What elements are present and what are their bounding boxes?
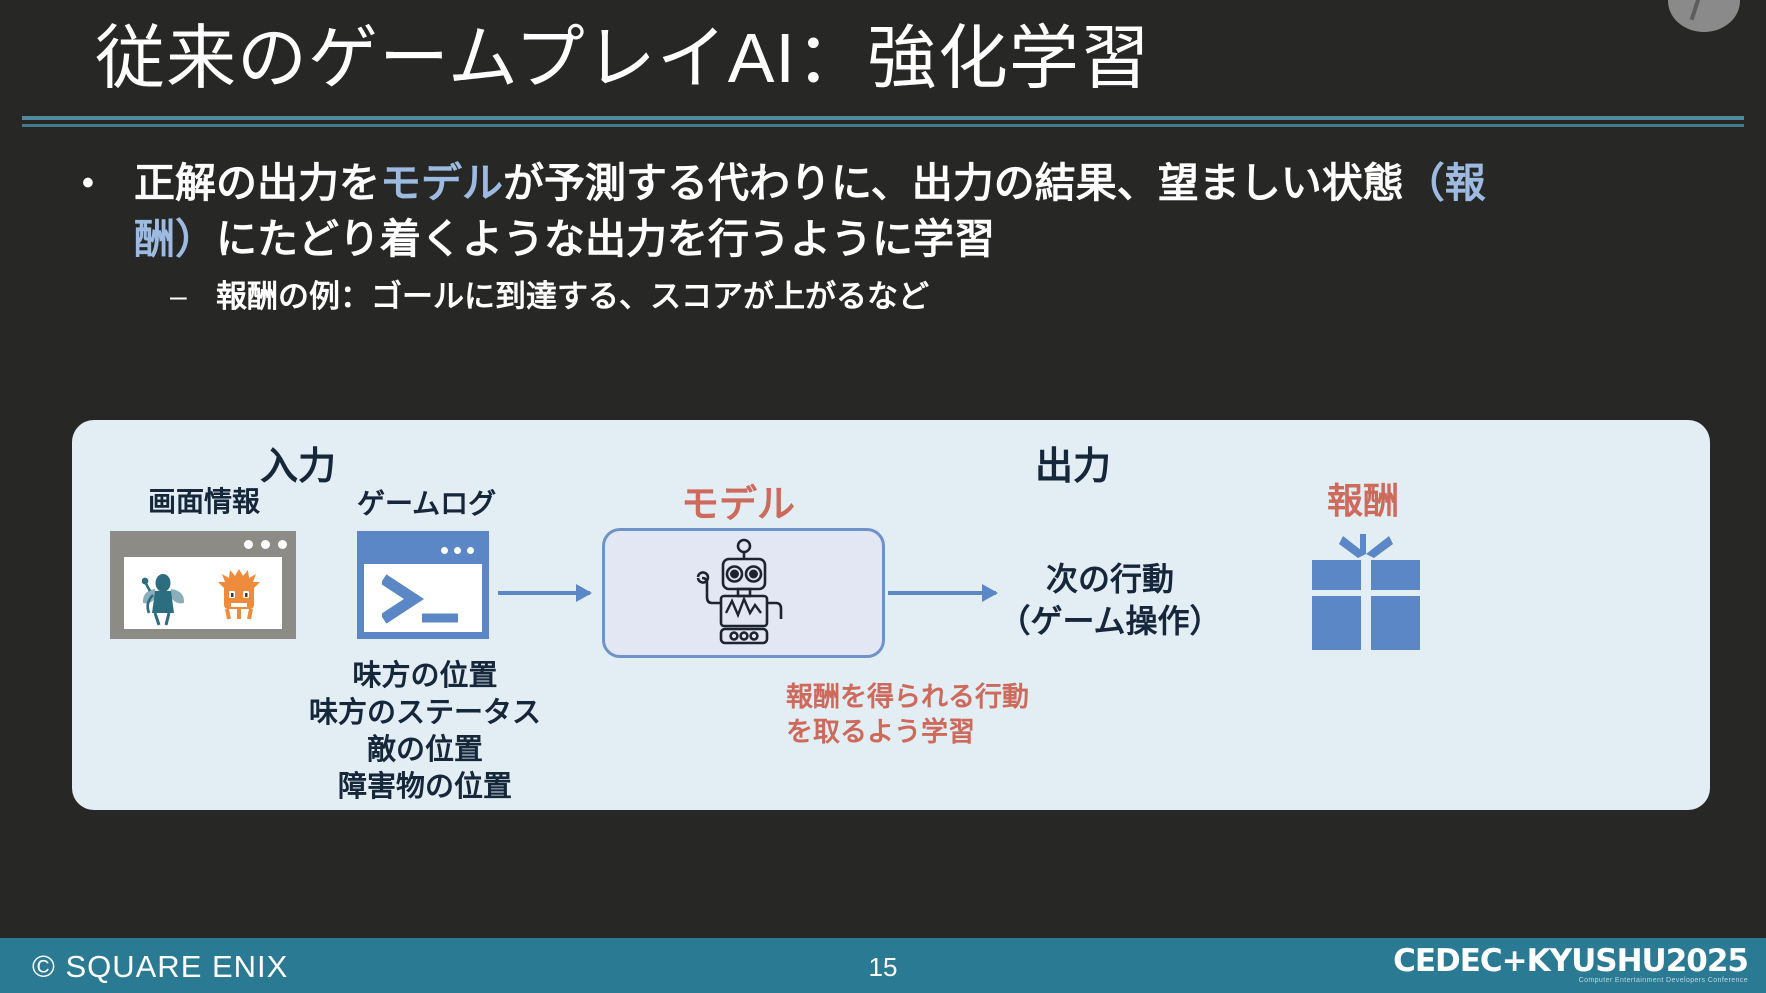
bullet-segment-plain-1: 正解の出力を <box>134 160 380 206</box>
conference-logo-text: CEDEC+KYUSHU2025 <box>1393 943 1748 979</box>
bullet-item: • 正解の出力をモデルが予測する代わりに、出力の結果、望ましい状態（報酬）にたど… <box>82 155 1512 267</box>
corner-pointer-decoration <box>1668 0 1740 32</box>
title-divider-line-1 <box>22 116 1744 120</box>
page-title: 従来のゲームプレイAI：強化学習 <box>95 12 1151 104</box>
bullet-text: 正解の出力をモデルが予測する代わりに、出力の結果、望ましい状態（報酬）にたどり着… <box>134 155 1512 267</box>
label-model: モデル <box>681 473 795 528</box>
diagram-header-output: 出力 <box>1035 435 1111 490</box>
monster-character-icon <box>218 567 260 621</box>
output-line: （ゲーム操作） <box>965 600 1255 642</box>
sub-bullet-item: – 報酬の例：ゴールに到達する、スコアが上がるなど <box>170 275 1470 319</box>
model-box <box>602 528 885 658</box>
fairy-character-icon <box>142 569 188 627</box>
game-screen-window-icon <box>110 531 296 639</box>
terminal-titlebar <box>364 538 482 564</box>
output-line: 次の行動 <box>965 558 1255 600</box>
bullet-marker: • <box>82 155 134 211</box>
sub-bullet-text: 報酬の例：ゴールに到達する、スコアが上がるなど <box>216 275 929 319</box>
input-feature-item: 敵の位置 <box>120 732 730 769</box>
game-screen-canvas <box>124 557 282 629</box>
learning-note-line: を取るよう学習 <box>786 715 1086 750</box>
label-screen-info: 画面情報 <box>148 480 260 520</box>
diagram-header-input: 入力 <box>260 435 336 490</box>
learning-note: 報酬を得られる行動 を取るよう学習 <box>786 680 1086 750</box>
title-divider <box>22 116 1744 127</box>
window-dots-icon <box>244 540 287 549</box>
input-feature-list: 味方の位置 味方のステータス 敵の位置 障害物の位置 <box>120 658 730 806</box>
arrow-input-to-model-icon <box>498 591 590 595</box>
bullet-segment-plain-2: が予測する代わりに、出力の結果、望ましい状態 <box>503 160 1404 206</box>
gift-box-reward-icon <box>1305 528 1427 658</box>
input-feature-item: 味方のステータス <box>120 695 730 732</box>
terminal-prompt-icon <box>382 574 472 632</box>
title-divider-line-2 <box>22 124 1744 127</box>
robot-icon <box>692 537 796 649</box>
footer-bar: © SQUARE ENIX 15 CEDEC+KYUSHU2025 Comput… <box>0 938 1766 993</box>
game-log-terminal-icon <box>357 531 489 639</box>
sub-bullet-marker: – <box>170 275 216 319</box>
terminal-dots-icon <box>441 538 474 554</box>
label-reward: 報酬 <box>1327 472 1399 524</box>
input-feature-item: 味方の位置 <box>120 658 730 695</box>
label-game-log: ゲームログ <box>357 482 496 522</box>
bullet-segment-model: モデル <box>380 160 503 206</box>
learning-note-line: 報酬を得られる行動 <box>786 680 1086 715</box>
input-feature-item: 障害物の位置 <box>120 769 730 806</box>
conference-logo: CEDEC+KYUSHU2025 Computer Entertainment … <box>1393 943 1748 984</box>
bullet-segment-plain-3: にたどり着くような出力を行うように学習 <box>216 216 995 262</box>
output-description: 次の行動 （ゲーム操作） <box>965 558 1255 642</box>
